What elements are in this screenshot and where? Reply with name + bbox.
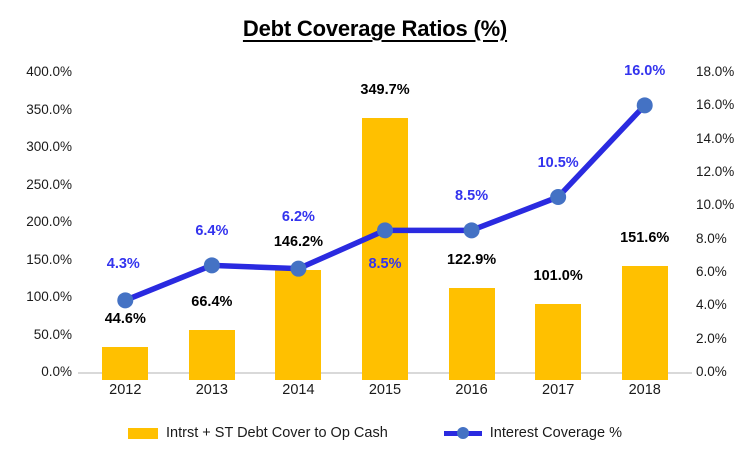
- left-axis-tick: 50.0%: [34, 328, 72, 342]
- left-axis-tick: 300.0%: [26, 140, 72, 154]
- category-label-2015: 2015: [345, 382, 425, 398]
- bar-2017[interactable]: [535, 304, 581, 380]
- bar-2016[interactable]: [449, 288, 495, 380]
- chart-title: Debt Coverage Ratios (%): [0, 16, 750, 42]
- right-axis-tick: 16.0%: [696, 98, 734, 112]
- category-label-2017: 2017: [518, 382, 598, 398]
- right-value-axis: 0.0%2.0%4.0%6.0%8.0%10.0%12.0%14.0%16.0%…: [696, 0, 750, 468]
- chart-legend: Intrst + ST Debt Cover to Op Cash Intere…: [0, 425, 750, 441]
- legend-item-line-series[interactable]: Interest Coverage %: [444, 425, 622, 441]
- right-axis-tick: 10.0%: [696, 198, 734, 212]
- legend-label-bar-series: Intrst + ST Debt Cover to Op Cash: [166, 425, 388, 441]
- category-label-2016: 2016: [432, 382, 512, 398]
- bar-swatch-icon: [128, 428, 158, 439]
- right-axis-tick: 4.0%: [696, 298, 727, 312]
- left-value-axis: 0.0%50.0%100.0%150.0%200.0%250.0%300.0%3…: [0, 0, 72, 468]
- left-axis-tick: 0.0%: [41, 365, 72, 379]
- line-value-label-2017: 10.5%: [518, 155, 598, 171]
- line-value-label-2015: 8.5%: [345, 256, 425, 272]
- bar-value-label-2017: 101.0%: [513, 268, 603, 284]
- right-axis-tick: 0.0%: [696, 365, 727, 379]
- bar-value-label-2018: 151.6%: [600, 230, 690, 246]
- bar-value-label-2016: 122.9%: [427, 252, 517, 268]
- bar-2013[interactable]: [189, 330, 235, 380]
- line-value-label-2014: 6.2%: [258, 209, 338, 225]
- right-axis-tick: 8.0%: [696, 232, 727, 246]
- left-axis-tick: 400.0%: [26, 65, 72, 79]
- line-value-label-2016: 8.5%: [432, 188, 512, 204]
- left-axis-tick: 350.0%: [26, 103, 72, 117]
- right-axis-tick: 14.0%: [696, 132, 734, 146]
- category-label-2014: 2014: [258, 382, 338, 398]
- category-label-2013: 2013: [172, 382, 252, 398]
- left-axis-tick: 200.0%: [26, 215, 72, 229]
- left-axis-tick: 250.0%: [26, 178, 72, 192]
- right-axis-tick: 18.0%: [696, 65, 734, 79]
- left-axis-tick: 150.0%: [26, 253, 72, 267]
- plot-area: [82, 60, 688, 380]
- left-axis-tick: 100.0%: [26, 290, 72, 304]
- category-label-2012: 2012: [85, 382, 165, 398]
- right-axis-tick: 6.0%: [696, 265, 727, 279]
- bar-2015[interactable]: [362, 118, 408, 380]
- bar-2018[interactable]: [622, 266, 668, 380]
- legend-item-bar-series[interactable]: Intrst + ST Debt Cover to Op Cash: [128, 425, 388, 441]
- right-axis-tick: 12.0%: [696, 165, 734, 179]
- category-label-2018: 2018: [605, 382, 685, 398]
- line-marker-swatch-icon: [444, 427, 482, 439]
- bar-value-label-2012: 44.6%: [80, 311, 170, 327]
- bar-2014[interactable]: [275, 270, 321, 380]
- chart-container: Debt Coverage Ratios (%) 0.0%50.0%100.0%…: [0, 0, 750, 468]
- bar-2012[interactable]: [102, 347, 148, 380]
- bar-value-label-2014: 146.2%: [253, 234, 343, 250]
- legend-label-line-series: Interest Coverage %: [490, 425, 622, 441]
- line-value-label-2012: 4.3%: [83, 256, 163, 272]
- line-value-label-2013: 6.4%: [172, 223, 252, 239]
- bar-value-label-2015: 349.7%: [340, 82, 430, 98]
- bar-value-label-2013: 66.4%: [167, 294, 257, 310]
- line-value-label-2018: 16.0%: [605, 63, 685, 79]
- right-axis-tick: 2.0%: [696, 332, 727, 346]
